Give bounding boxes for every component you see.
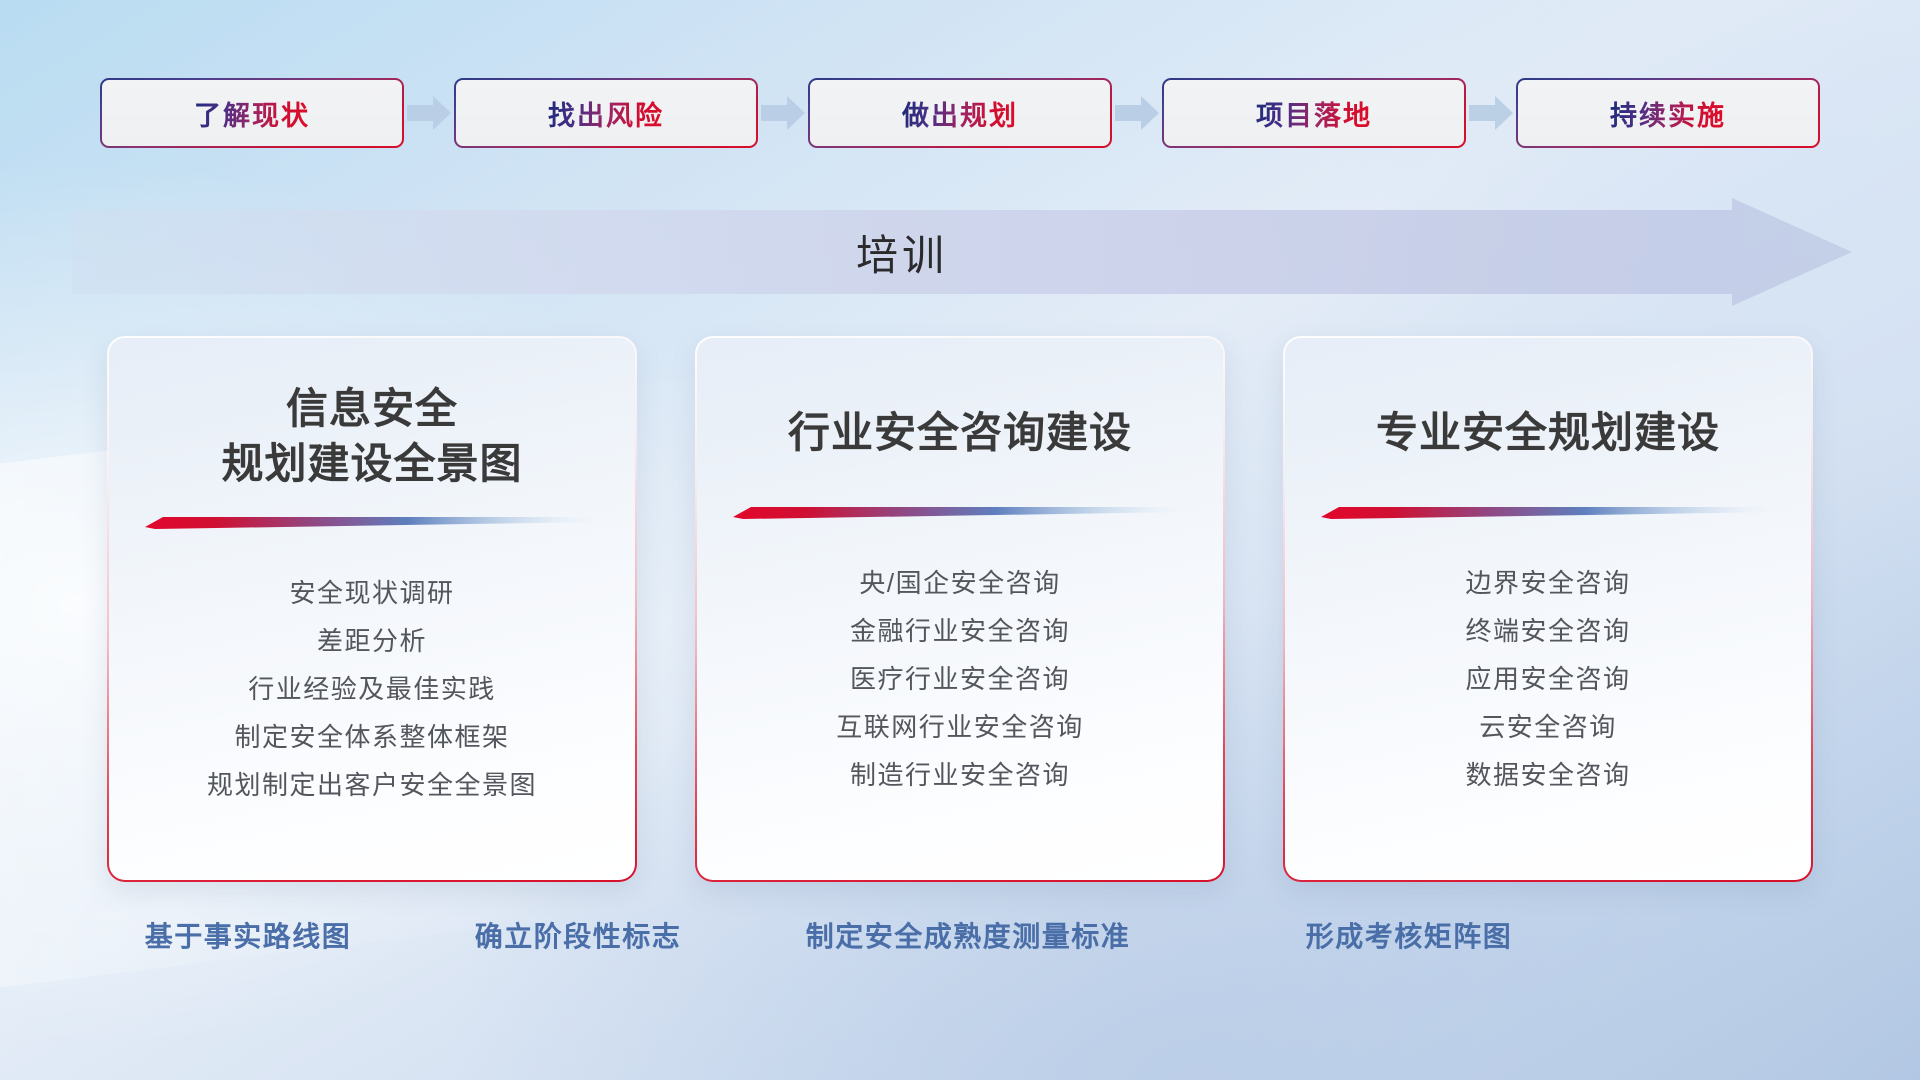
card-item-list: 安全现状调研 差距分析 行业经验及最佳实践 制定安全体系整体框架 规划制定出客户… — [143, 569, 601, 809]
list-item: 规划制定出客户安全全景图 — [207, 761, 537, 809]
slide-canvas: 了解现状 找出风险 做出规划 项目落地 持续实施 — [0, 0, 1920, 1080]
right-arrow-icon — [404, 76, 454, 150]
card-body: 行业安全咨询建设 — [697, 338, 1223, 880]
list-item: 数据安全咨询 — [1465, 751, 1630, 799]
step-box-3[interactable]: 做出规划 — [808, 78, 1112, 148]
card-item-list: 边界安全咨询 终端安全咨询 应用安全咨询 云安全咨询 数据安全咨询 — [1319, 559, 1777, 799]
right-arrow-icon — [1466, 76, 1516, 150]
caption-roadmap: 基于事实路线图 — [145, 915, 352, 955]
card-body: 专业安全规划建设 — [1285, 338, 1811, 880]
step-box-4[interactable]: 项目落地 — [1162, 78, 1466, 148]
step-box-5[interactable]: 持续实施 — [1516, 78, 1820, 148]
caption-review-matrix: 形成考核矩阵图 — [1306, 915, 1513, 955]
right-arrow-icon — [1112, 76, 1162, 150]
list-item: 医疗行业安全咨询 — [850, 655, 1070, 703]
caption-milestones: 确立阶段性标志 — [475, 915, 682, 955]
list-item: 应用安全咨询 — [1465, 655, 1630, 703]
step-label: 持续实施 — [1610, 94, 1726, 133]
list-item: 安全现状调研 — [289, 569, 454, 617]
right-arrow-icon — [758, 76, 808, 150]
list-item: 行业经验及最佳实践 — [248, 665, 496, 713]
list-item: 互联网行业安全咨询 — [836, 703, 1084, 751]
card-info-security-blueprint[interactable]: 信息安全 规划建设全景图 — [107, 336, 637, 882]
card-title: 专业安全规划建设 — [1376, 406, 1720, 461]
step-label: 项目落地 — [1256, 94, 1372, 133]
step-label: 做出规划 — [902, 94, 1018, 133]
list-item: 金融行业安全咨询 — [850, 607, 1070, 655]
card-row: 信息安全 规划建设全景图 — [0, 336, 1920, 882]
step-label: 了解现状 — [194, 94, 310, 133]
list-item: 边界安全咨询 — [1465, 559, 1630, 607]
list-item: 央/国企安全咨询 — [859, 559, 1060, 607]
card-item-list: 央/国企安全咨询 金融行业安全咨询 医疗行业安全咨询 互联网行业安全咨询 制造行… — [731, 559, 1189, 799]
caption-row: 基于事实路线图 确立阶段性标志 制定安全成熟度测量标准 形成考核矩阵图 — [0, 915, 1920, 965]
gradient-wedge-divider-icon — [145, 513, 599, 529]
gradient-wedge-divider-icon — [733, 503, 1187, 519]
divider-wrap — [1319, 503, 1777, 519]
divider-wrap — [143, 513, 601, 529]
card-title: 信息安全 规划建设全景图 — [221, 382, 522, 491]
training-banner: 培训 — [72, 198, 1852, 306]
divider-wrap — [731, 503, 1189, 519]
card-title: 行业安全咨询建设 — [788, 406, 1132, 461]
list-item: 制定安全体系整体框架 — [234, 713, 509, 761]
step-label: 找出风险 — [548, 94, 664, 133]
list-item: 制造行业安全咨询 — [850, 751, 1070, 799]
list-item: 云安全咨询 — [1479, 703, 1617, 751]
list-item: 差距分析 — [317, 617, 427, 665]
step-box-2[interactable]: 找出风险 — [454, 78, 758, 148]
list-item: 终端安全咨询 — [1465, 607, 1630, 655]
gradient-wedge-divider-icon — [1321, 503, 1775, 519]
training-banner-label: 培训 — [72, 198, 1852, 306]
card-professional-security-planning[interactable]: 专业安全规划建设 — [1283, 336, 1813, 882]
process-step-row: 了解现状 找出风险 做出规划 项目落地 持续实施 — [0, 76, 1920, 150]
card-body: 信息安全 规划建设全景图 — [109, 338, 635, 880]
card-industry-security-consulting[interactable]: 行业安全咨询建设 — [695, 336, 1225, 882]
caption-maturity: 制定安全成熟度测量标准 — [806, 915, 1131, 955]
step-box-1[interactable]: 了解现状 — [100, 78, 404, 148]
